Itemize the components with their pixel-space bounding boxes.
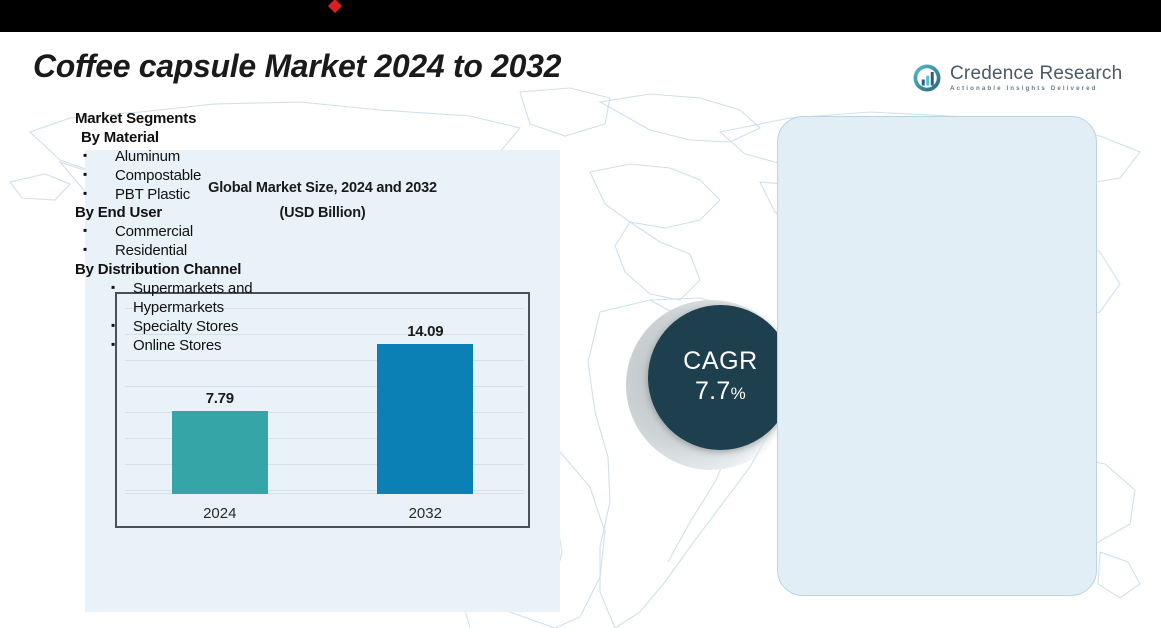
segment-item: ▪Commercial <box>75 223 325 242</box>
bullet-icon: ▪ <box>111 280 133 318</box>
category-label-2024: 2024 <box>160 505 280 522</box>
cagr-label: CAGR <box>683 348 758 376</box>
segment-group-title: By Material <box>75 129 325 148</box>
segment-item: ▪PBT Plastic <box>75 186 325 205</box>
segment-group-title: By Distribution Channel <box>75 261 325 280</box>
segment-item-label: Specialty Stores <box>133 318 325 337</box>
cagr-value: 7.7% <box>695 375 746 408</box>
segment-item: ▪Aluminum <box>75 148 325 167</box>
segment-item: ▪Supermarkets and Hypermarkets <box>75 280 325 318</box>
bullet-icon: ▪ <box>83 223 115 242</box>
segment-item: ▪Residential <box>75 242 325 261</box>
segment-item-label: Residential <box>115 242 325 261</box>
segment-item-label: PBT Plastic <box>115 186 325 205</box>
bullet-icon: ▪ <box>111 337 133 356</box>
bullet-icon: ▪ <box>83 167 115 186</box>
segment-item-label: Supermarkets and Hypermarkets <box>133 280 325 318</box>
market-segments-panel <box>777 116 1097 596</box>
logo-name: Credence Research <box>950 64 1122 84</box>
segments-heading: Market Segments <box>75 110 325 129</box>
segment-item-label: Compostable <box>115 167 325 186</box>
market-segments-content: Market Segments By Material▪Aluminum▪Com… <box>75 110 325 356</box>
bullet-icon: ▪ <box>111 318 133 337</box>
segment-item-label: Online Stores <box>133 337 325 356</box>
red-diamond-dot-icon <box>328 0 342 13</box>
logo-tagline: Actionable Insights Delivered <box>950 85 1122 92</box>
bar-2032 <box>377 344 473 494</box>
top-black-bar <box>0 0 1161 32</box>
segment-item: ▪Online Stores <box>75 337 325 356</box>
segment-item-label: Aluminum <box>115 148 325 167</box>
cagr-number: 7.7 <box>695 377 731 405</box>
brand-logo: Credence Research Actionable Insights De… <box>912 63 1122 93</box>
segment-group-title: By End User <box>75 204 325 223</box>
cagr-unit: % <box>731 384 746 403</box>
bullet-icon: ▪ <box>83 148 115 167</box>
bar-value-label-2032: 14.09 <box>365 323 485 340</box>
segment-item: ▪Specialty Stores <box>75 318 325 337</box>
bullet-icon: ▪ <box>83 186 115 205</box>
page-title: Coffee capsule Market 2024 to 2032 <box>33 48 561 85</box>
category-label-2032: 2032 <box>365 505 485 522</box>
bar-2024 <box>172 411 268 494</box>
segment-item: ▪Compostable <box>75 167 325 186</box>
cagr-badge: CAGR 7.7% <box>648 305 793 450</box>
bar-value-label-2024: 7.79 <box>160 390 280 407</box>
circle-bar-chart-logo-icon <box>912 63 942 93</box>
segment-groups: By Material▪Aluminum▪Compostable▪PBT Pla… <box>75 129 325 356</box>
segment-item-label: Commercial <box>115 223 325 242</box>
bullet-icon: ▪ <box>83 242 115 261</box>
